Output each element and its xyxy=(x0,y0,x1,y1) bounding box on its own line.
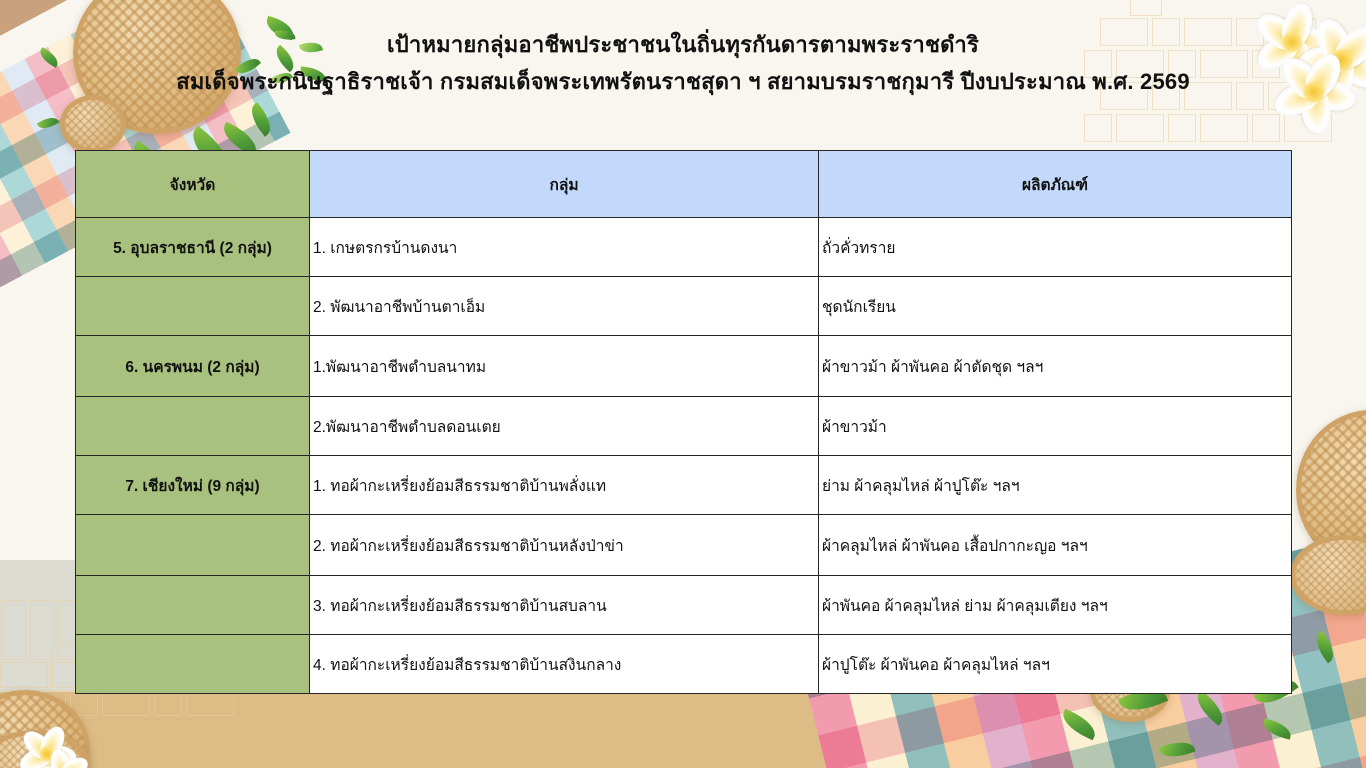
column-header-province: จังหวัด xyxy=(76,151,310,218)
green-leaf-18 xyxy=(1058,709,1100,740)
green-leaf-9 xyxy=(245,102,277,136)
background-tan-band xyxy=(0,692,1366,768)
cell-product: ผ้าคลุมไหล่ ผ้าพันคอ เสื้อปกากะญอ ฯลฯ xyxy=(819,515,1292,576)
woven-basket-bottom-left xyxy=(0,690,90,768)
slide-title-block: เป้าหมายกลุ่มอาชีพประชาชนในถิ่นทุรกันดาร… xyxy=(0,30,1366,98)
cell-province: 5. อุบลราชธานี (2 กลุ่ม) xyxy=(76,218,310,277)
table-row: 7. เชียงใหม่ (9 กลุ่ม) 1. ทอผ้ากะเหรี่ยง… xyxy=(76,456,1292,515)
cell-group: 1. เกษตรกรบ้านดงนา xyxy=(310,218,819,277)
cell-product: ถั่วคั่วทราย xyxy=(819,218,1292,277)
slide-canvas: เป้าหมายกลุ่มอาชีพประชาชนในถิ่นทุรกันดาร… xyxy=(0,0,1366,768)
table-head: จังหวัด กลุ่ม ผลิตภัณฑ์ xyxy=(76,151,1292,218)
flower-petal xyxy=(36,749,62,768)
cell-province: 6. นครพนม (2 กลุ่ม) xyxy=(76,336,310,397)
table-row: 6. นครพนม (2 กลุ่ม) 1.พัฒนาอาชีพตำบลนาทม… xyxy=(76,336,1292,397)
flower-petal xyxy=(42,744,77,768)
data-table-container: จังหวัด กลุ่ม ผลิตภัณฑ์ 5. อุบลราชธานี (… xyxy=(75,150,1291,694)
green-leaf-15 xyxy=(1191,690,1229,725)
plumeria-flower-bottom-left-1 xyxy=(14,721,80,768)
cell-group: 1.พัฒนาอาชีพตำบลนาทม xyxy=(310,336,819,397)
green-leaf-19 xyxy=(1159,737,1196,762)
cell-product: ผ้าขาวม้า xyxy=(819,397,1292,456)
cell-group: 2. ทอผ้ากะเหรี่ยงย้อมสีธรรมชาติบ้านหลังป… xyxy=(310,515,819,576)
flower-petal xyxy=(47,747,73,768)
woven-basket-bottom-far-left xyxy=(0,730,90,768)
green-leaf-12 xyxy=(37,114,59,133)
table-row: 5. อุบลราชธานี (2 กลุ่ม) 1. เกษตรกรบ้านด… xyxy=(76,218,1292,277)
woven-basket-bottom-right xyxy=(1290,535,1366,615)
flower-petal xyxy=(19,726,57,763)
plumeria-flower-bottom-left-2 xyxy=(34,746,94,768)
cell-province xyxy=(76,635,310,694)
cell-group: 3. ทอผ้ากะเหรี่ยงย้อมสีธรรมชาติบ้านสบลาน xyxy=(310,576,819,635)
cell-product: ผ้าปูโต๊ะ ผ้าพันคอ ผ้าคลุมไหล่ ฯลฯ xyxy=(819,635,1292,694)
column-header-product: ผลิตภัณฑ์ xyxy=(819,151,1292,218)
flower-core xyxy=(39,746,55,762)
cell-group: 2. พัฒนาอาชีพบ้านตาเอ็ม xyxy=(310,277,819,336)
cell-province xyxy=(76,576,310,635)
cell-province xyxy=(76,397,310,456)
cell-product: ชุดนักเรียน xyxy=(819,277,1292,336)
cell-product: ผ้าพันคอ ผ้าคลุมไหล่ ย่าม ผ้าคลุมเตียง ฯ… xyxy=(819,576,1292,635)
cell-province xyxy=(76,277,310,336)
occupational-groups-table: จังหวัด กลุ่ม ผลิตภัณฑ์ 5. อุบลราชธานี (… xyxy=(75,150,1292,694)
table-row: 3. ทอผ้ากะเหรี่ยงย้อมสีธรรมชาติบ้านสบลาน… xyxy=(76,576,1292,635)
cell-province xyxy=(76,515,310,576)
cell-product: ผ้าขาวม้า ผ้าพันคอ ผ้าตัดชุด ฯลฯ xyxy=(819,336,1292,397)
table-row: 2. พัฒนาอาชีพบ้านตาเอ็ม ชุดนักเรียน xyxy=(76,277,1292,336)
table-body: 5. อุบลราชธานี (2 กลุ่ม) 1. เกษตรกรบ้านด… xyxy=(76,218,1292,694)
cell-product: ย่าม ผ้าคลุมไหล่ ผ้าปูโต๊ะ ฯลฯ xyxy=(819,456,1292,515)
table-row: 2. ทอผ้ากะเหรี่ยงย้อมสีธรรมชาติบ้านหลังป… xyxy=(76,515,1292,576)
table-row: 2.พัฒนาอาชีพตำบลดอนเตย ผ้าขาวม้า xyxy=(76,397,1292,456)
cell-group: 1. ทอผ้ากะเหรี่ยงย้อมสีธรรมชาติบ้านพลั่ง… xyxy=(310,456,819,515)
table-row: 4. ทอผ้ากะเหรี่ยงย้อมสีธรรมชาติบ้านสงินก… xyxy=(76,635,1292,694)
table-header-row: จังหวัด กลุ่ม ผลิตภัณฑ์ xyxy=(76,151,1292,218)
woven-basket-top-left-small xyxy=(60,95,126,153)
green-leaf-17 xyxy=(1261,718,1294,739)
cell-province: 7. เชียงใหม่ (9 กลุ่ม) xyxy=(76,456,310,515)
cell-group: 2.พัฒนาอาชีพตำบลดอนเตย xyxy=(310,397,819,456)
flower-petal xyxy=(56,753,92,768)
woven-basket-right-edge xyxy=(1296,410,1366,570)
flower-petal xyxy=(16,744,54,768)
flower-petal xyxy=(37,723,70,761)
cell-group: 4. ทอผ้ากะเหรี่ยงย้อมสีธรรมชาติบ้านสงินก… xyxy=(310,635,819,694)
green-leaf-20 xyxy=(1311,631,1340,664)
column-header-group: กลุ่ม xyxy=(310,151,819,218)
title-line-2: สมเด็จพระกนิษฐาธิราชเจ้า กรมสมเด็จพระเทพ… xyxy=(0,66,1366,98)
title-line-1: เป้าหมายกลุ่มอาชีพประชาชนในถิ่นทุรกันดาร… xyxy=(0,30,1366,60)
